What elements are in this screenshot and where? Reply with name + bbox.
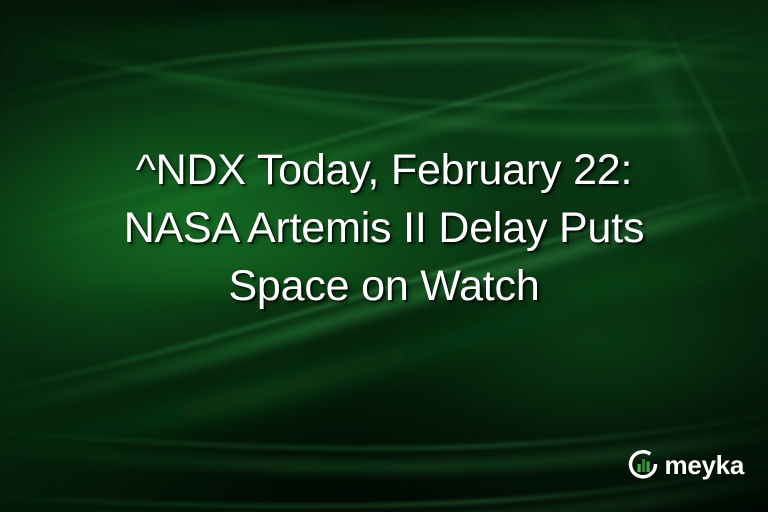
meyka-wordmark: meyka bbox=[665, 452, 744, 478]
meyka-logo[interactable]: meyka bbox=[627, 448, 744, 480]
article-banner: ^NDX Today, February 22: NASA Artemis II… bbox=[0, 0, 768, 512]
article-headline: ^NDX Today, February 22: NASA Artemis II… bbox=[0, 141, 768, 315]
meyka-circle-bar-chart-icon bbox=[627, 448, 659, 480]
